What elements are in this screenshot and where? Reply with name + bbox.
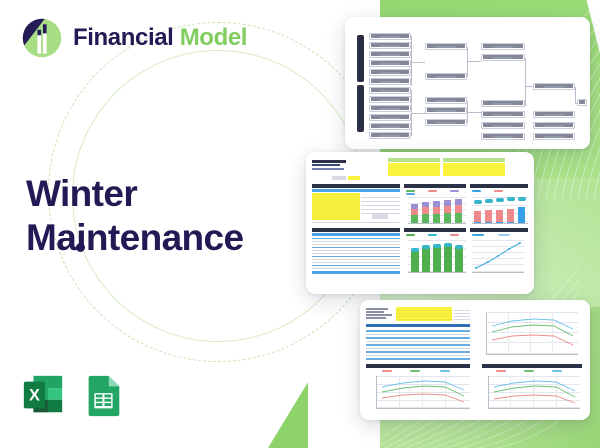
poster-canvas: Financial Model Winter Maintenance X [0, 0, 600, 448]
dashboard-subtitle [312, 164, 340, 166]
table-header-bar [366, 324, 470, 327]
flow-node [481, 122, 525, 129]
chart-plot-revenue-streams [408, 197, 466, 223]
preview-card-dashboard[interactable] [306, 152, 534, 294]
chart-title-bar-revenue-streams [404, 184, 466, 188]
financial-model-circle-chart-logo-icon [20, 16, 64, 60]
chart-title-bar-cash-flow [404, 228, 466, 232]
flow-node [369, 87, 411, 94]
table-input-area[interactable] [312, 193, 360, 220]
fan-pattern-bottom-left [120, 308, 360, 448]
flow-node [369, 132, 411, 139]
table-subheader-bar [312, 233, 400, 236]
dashboard-header-cell [388, 158, 440, 162]
flow-node [425, 43, 467, 50]
flow-node [369, 123, 411, 130]
flow-side-label-income-statement [357, 35, 364, 82]
legend-swatch [472, 234, 484, 236]
svg-text:X: X [29, 387, 40, 405]
google-sheets-icon[interactable] [80, 372, 126, 418]
chart-plot-investment-payback [472, 240, 524, 272]
brand-logo[interactable]: Financial Model [20, 16, 247, 60]
legend-swatch [406, 193, 415, 195]
flow-node [481, 43, 525, 50]
flow-node [369, 105, 411, 112]
table-total-cell [372, 214, 388, 219]
table-header-bar [312, 228, 400, 232]
dashboard-content [306, 152, 534, 294]
flow-node [369, 96, 411, 103]
page-title-line2: Maintenance [26, 216, 244, 260]
legend-swatch [406, 190, 415, 192]
flow-node [481, 133, 525, 140]
legend-swatch [410, 370, 420, 372]
flow-node [481, 100, 525, 107]
table-header-bar [312, 184, 400, 188]
flow-node [481, 54, 525, 61]
flow-node [425, 107, 467, 114]
flow-node [369, 69, 411, 76]
preview-card-flow-diagram[interactable] [345, 17, 590, 149]
legend-swatch [552, 370, 562, 372]
flow-node [533, 122, 575, 129]
chart-plot-ebitda [488, 376, 580, 408]
flow-node [369, 51, 411, 58]
flow-node [369, 114, 411, 121]
legend-swatch [494, 190, 503, 192]
legend-swatch [440, 370, 450, 372]
table-total-bar [312, 271, 400, 274]
dashboard-input-cell[interactable] [348, 176, 360, 180]
chart-title-bar-ebitda [482, 364, 582, 368]
brand-name-part1: Financial [73, 24, 173, 51]
legend-swatch [450, 234, 459, 236]
flow-node [425, 73, 467, 80]
chart-plot-gross-margin [376, 376, 470, 408]
chart-plot-comparison-top [486, 312, 578, 354]
chart-title-bar-profitability [470, 184, 528, 188]
flow-node [369, 78, 411, 85]
flow-side-label-balance-sheet [357, 85, 364, 132]
microsoft-excel-icon[interactable]: X [20, 372, 66, 418]
legend-swatch [406, 234, 415, 236]
flow-node [481, 111, 525, 118]
green-triangle-accent [268, 382, 308, 448]
legend-swatch [524, 370, 534, 372]
legend-swatch [498, 234, 510, 236]
legend-swatch [450, 190, 459, 192]
dashboard-input-block[interactable] [443, 163, 505, 176]
chart-title-bar-gross-margin [366, 364, 470, 368]
brand-name: Financial Model [73, 26, 247, 50]
chart-title-bar-investment-payback [470, 228, 528, 232]
file-format-icons: X [20, 372, 126, 418]
flow-node [425, 119, 467, 126]
flow-node [369, 33, 411, 40]
flow-node [577, 99, 587, 106]
projection-charts-content [360, 300, 590, 420]
flow-diagram-content [345, 17, 590, 149]
flow-node [533, 83, 575, 90]
flow-node [369, 42, 411, 49]
flow-node [533, 133, 575, 140]
dashboard-caption [312, 168, 344, 170]
dashboard-title [312, 160, 346, 163]
page-title: Winter Maintenance [26, 172, 244, 259]
chart-plot-cash-flow [408, 240, 466, 272]
flow-node [425, 97, 467, 104]
page-title-line1: Winter [26, 172, 244, 216]
flow-node [369, 60, 411, 67]
preview-card-projection-charts[interactable] [360, 300, 590, 420]
table-subheader-bar [312, 189, 400, 192]
legend-swatch [472, 190, 481, 192]
legend-swatch [382, 370, 392, 372]
brand-name-part2: Model [180, 24, 247, 51]
legend-swatch [428, 190, 437, 192]
legend-swatch [496, 370, 506, 372]
dashboard-header-cell [443, 158, 505, 162]
legend-swatch [428, 234, 437, 236]
flow-node [533, 111, 575, 118]
dashboard-input-block[interactable] [388, 163, 440, 176]
dashboard-toggle[interactable] [332, 176, 346, 180]
